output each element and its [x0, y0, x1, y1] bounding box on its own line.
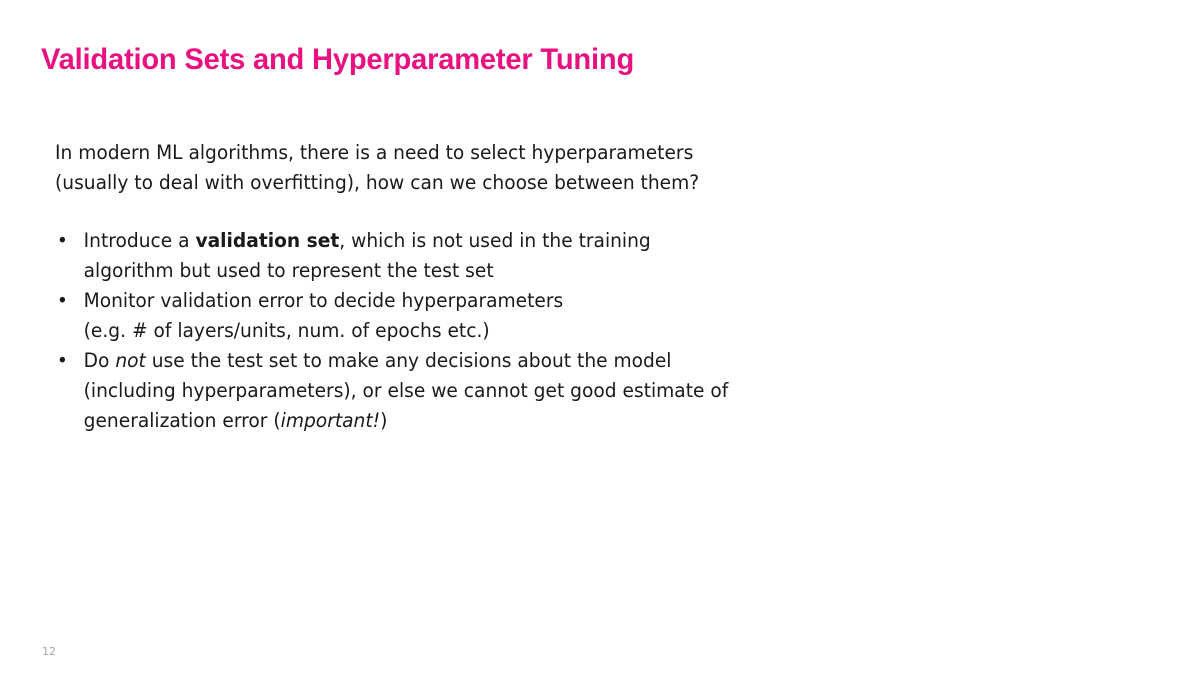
bullet-dot-icon: •: [57, 346, 68, 376]
bullet-dot-icon: •: [57, 286, 68, 316]
bullet-3-emphasis-not: not: [115, 349, 146, 372]
page-number: 12: [42, 645, 56, 659]
bullet-3-line-3: generalization error (important!): [84, 406, 781, 436]
page-title: Validation Sets and Hyperparameter Tunin…: [41, 43, 634, 77]
intro-paragraph: In modern ML algorithms, there is a need…: [55, 138, 781, 198]
bullet-1-line-1-post: , which is not used in the training: [339, 229, 650, 252]
intro-line-1: In modern ML algorithms, there is a need…: [55, 138, 781, 168]
slide-canvas: Validation Sets and Hyperparameter Tunin…: [0, 0, 1200, 675]
bullet-3-line-3-post: ): [380, 409, 387, 432]
bullet-1-line-1: Introduce a validation set, which is not…: [84, 226, 781, 256]
bullet-1-emphasis-validation-set: validation set: [195, 229, 339, 252]
list-item: • Monitor validation error to decide hyp…: [55, 286, 781, 346]
bullet-3-emphasis-important: important!: [281, 409, 380, 432]
bullet-2-line-2: (e.g. # of layers/units, num. of epochs …: [84, 316, 781, 346]
bullet-1-line-1-pre: Introduce a: [84, 229, 196, 252]
bullet-2-line-1: Monitor validation error to decide hyper…: [84, 286, 781, 316]
bullet-1-line-2: algorithm but used to represent the test…: [84, 256, 781, 286]
slide-body: In modern ML algorithms, there is a need…: [55, 138, 815, 436]
bullet-list: • Introduce a validation set, which is n…: [55, 226, 815, 436]
bullet-3-line-1: Do not use the test set to make any deci…: [84, 346, 781, 376]
list-item: • Introduce a validation set, which is n…: [55, 226, 781, 286]
list-item: • Do not use the test set to make any de…: [55, 346, 781, 436]
bullet-3-line-1-post: use the test set to make any decisions a…: [146, 349, 672, 372]
bullet-3-line-2: (including hyperparameters), or else we …: [84, 376, 781, 406]
bullet-3-line-1-pre: Do: [84, 349, 116, 372]
bullet-dot-icon: •: [57, 226, 68, 256]
intro-line-2: (usually to deal with overfitting), how …: [55, 168, 781, 198]
bullet-3-line-3-pre: generalization error (: [84, 409, 281, 432]
